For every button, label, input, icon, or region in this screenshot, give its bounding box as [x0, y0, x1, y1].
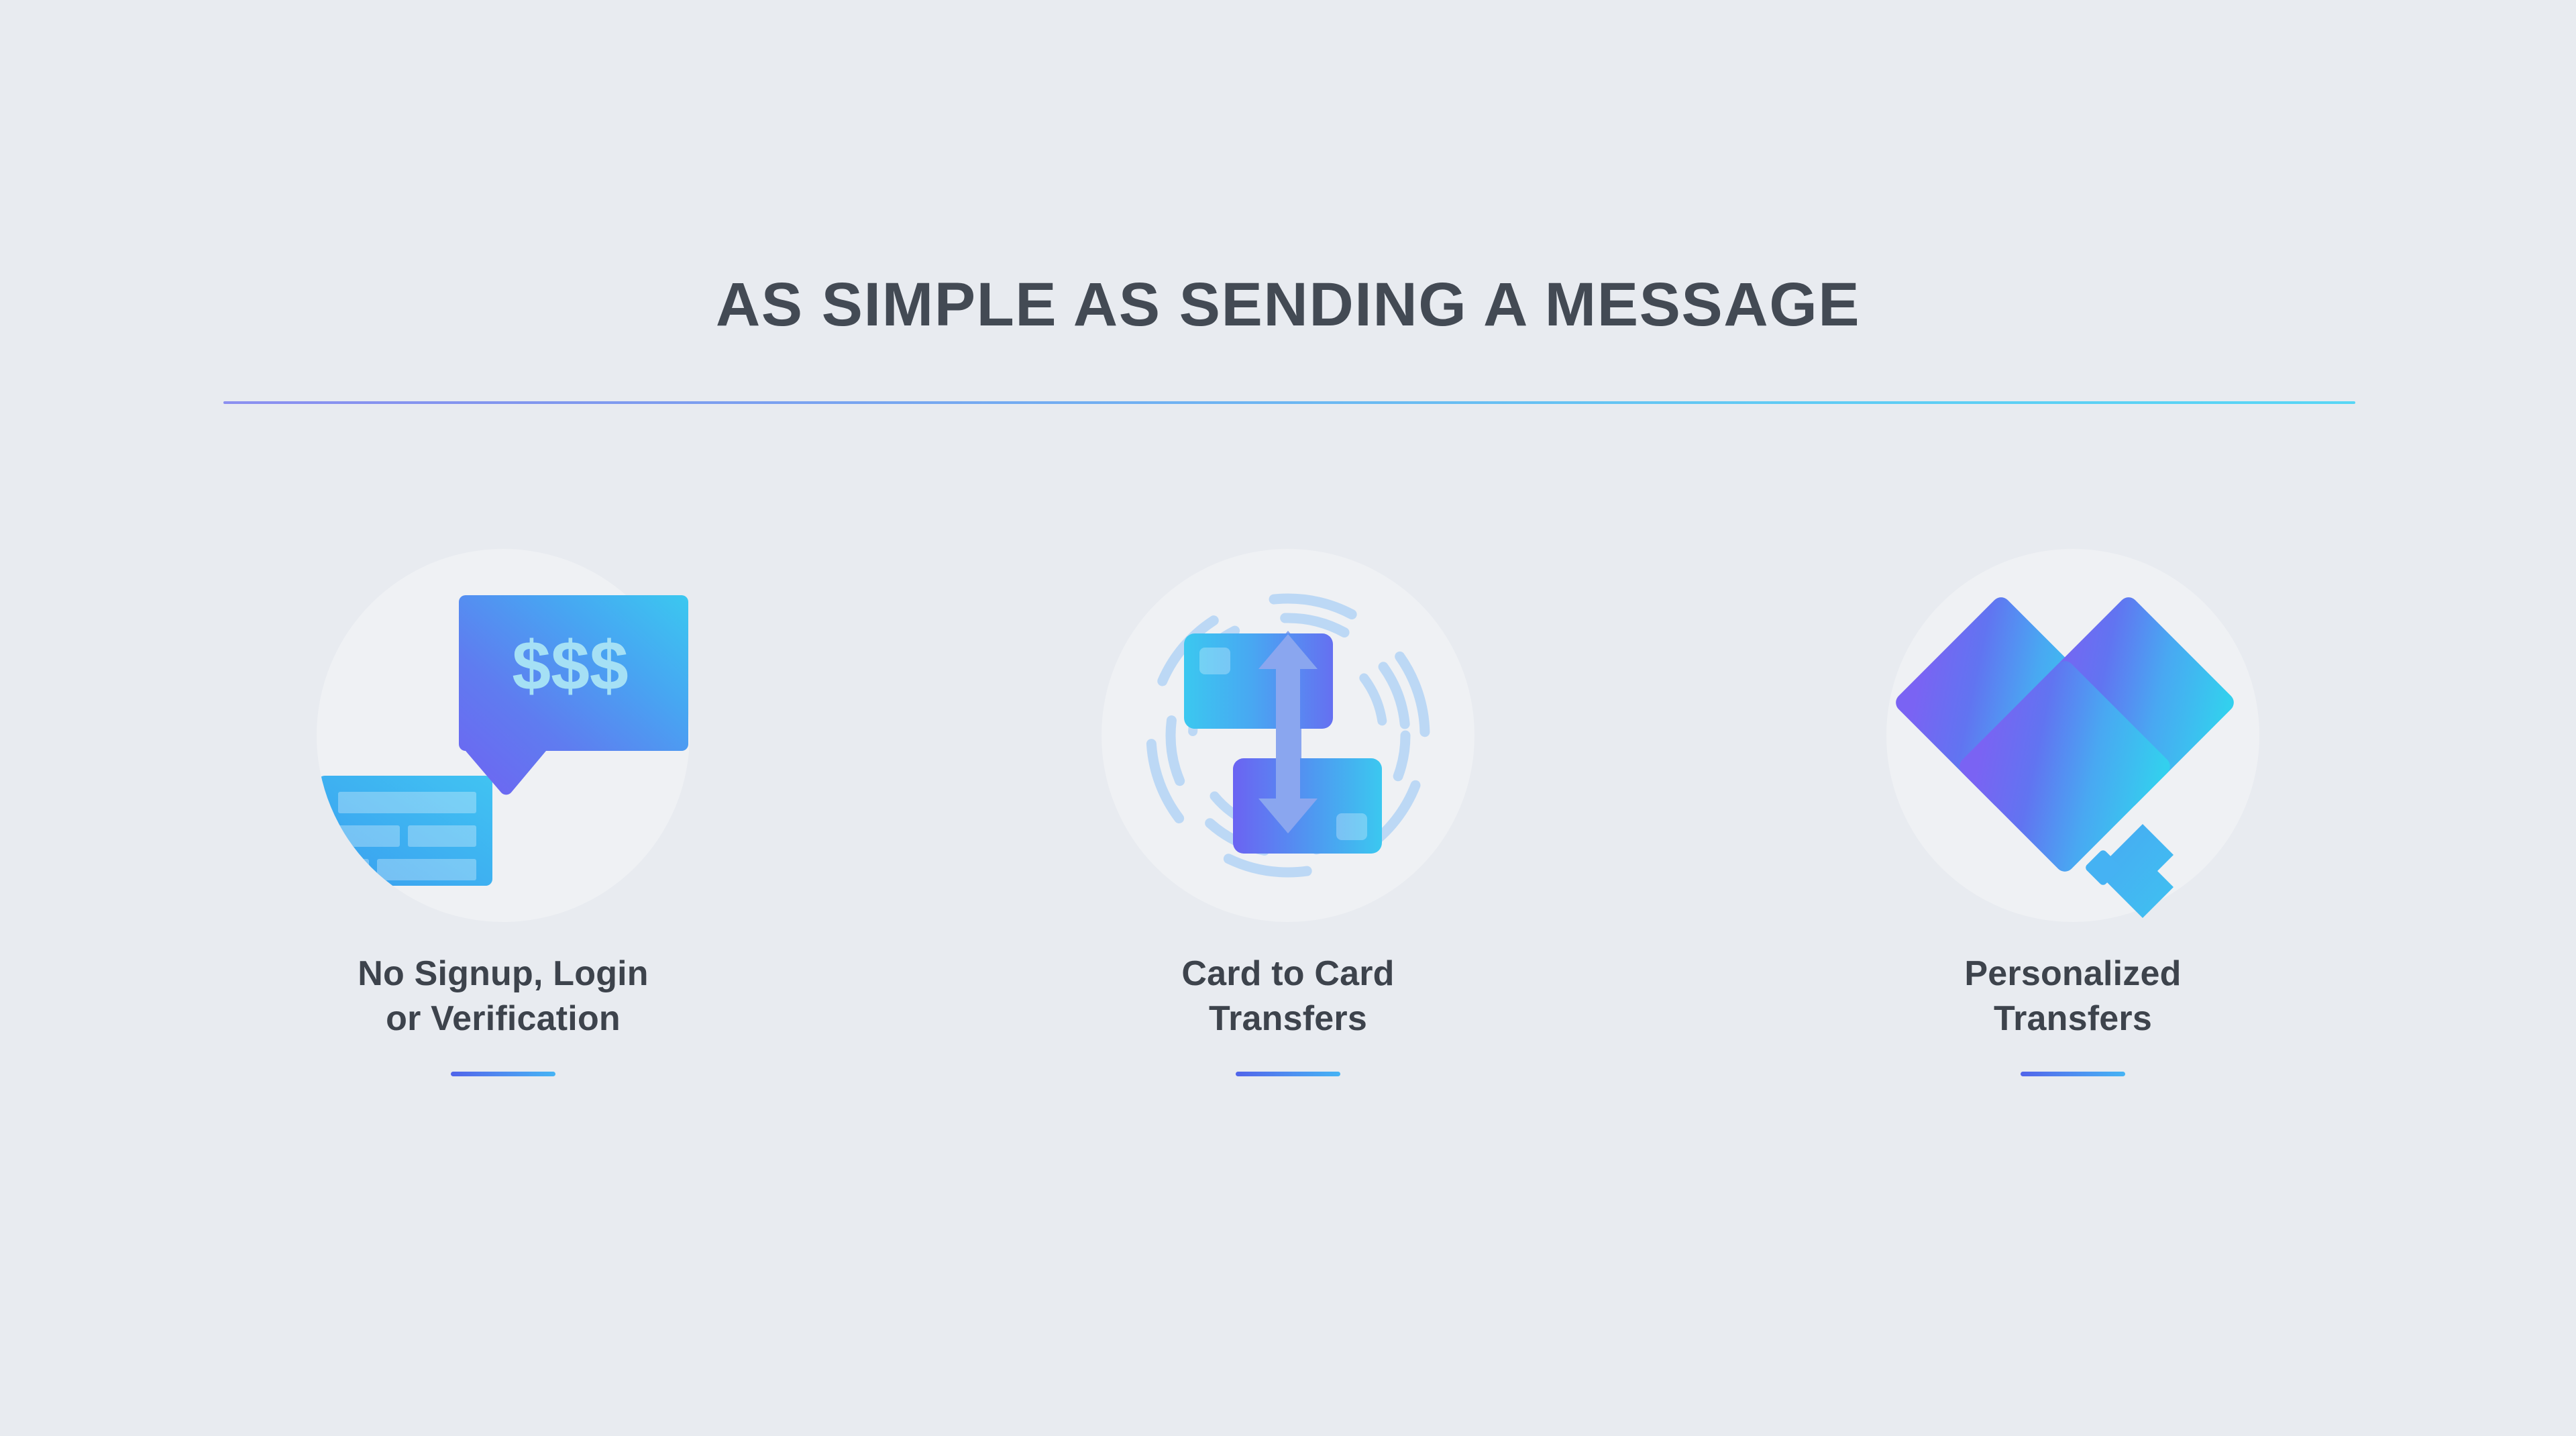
form-card-shape: [318, 776, 492, 886]
feature-underline: [2021, 1072, 2125, 1076]
feature-card-no-signup[interactable]: $$$ No Signup, Login or Verification: [111, 510, 896, 1076]
page-title: AS SIMPLE AS SENDING A MESSAGE: [0, 274, 2576, 336]
icon-stage: [1087, 510, 1489, 939]
feature-card-card-to-card[interactable]: Card to Card Transfers: [896, 510, 1680, 1076]
card-transfer-arrows-icon: [1087, 510, 1489, 939]
feature-list: $$$ No Signup, Login or Verification: [0, 510, 2576, 1248]
feature-label: Card to Card Transfers: [1181, 952, 1394, 1041]
heart-shape: [1892, 593, 2237, 875]
message-bubble-dollars-icon: $$$: [302, 510, 704, 939]
icon-stage: $$$: [302, 510, 704, 939]
card-top-shape: [1184, 633, 1333, 729]
feature-label: Personalized Transfers: [1964, 952, 2181, 1041]
feature-underline: [451, 1072, 555, 1076]
heart-diamond-icon: [1872, 510, 2274, 939]
icon-stage: [1872, 510, 2274, 939]
page-header: AS SIMPLE AS SENDING A MESSAGE: [0, 0, 2576, 416]
feature-underline: [1236, 1072, 1340, 1076]
title-divider: [223, 401, 2355, 404]
dollars-text: $$$: [512, 627, 629, 705]
feature-label: No Signup, Login or Verification: [358, 952, 649, 1041]
feature-card-personalized[interactable]: Personalized Transfers: [1680, 510, 2465, 1076]
